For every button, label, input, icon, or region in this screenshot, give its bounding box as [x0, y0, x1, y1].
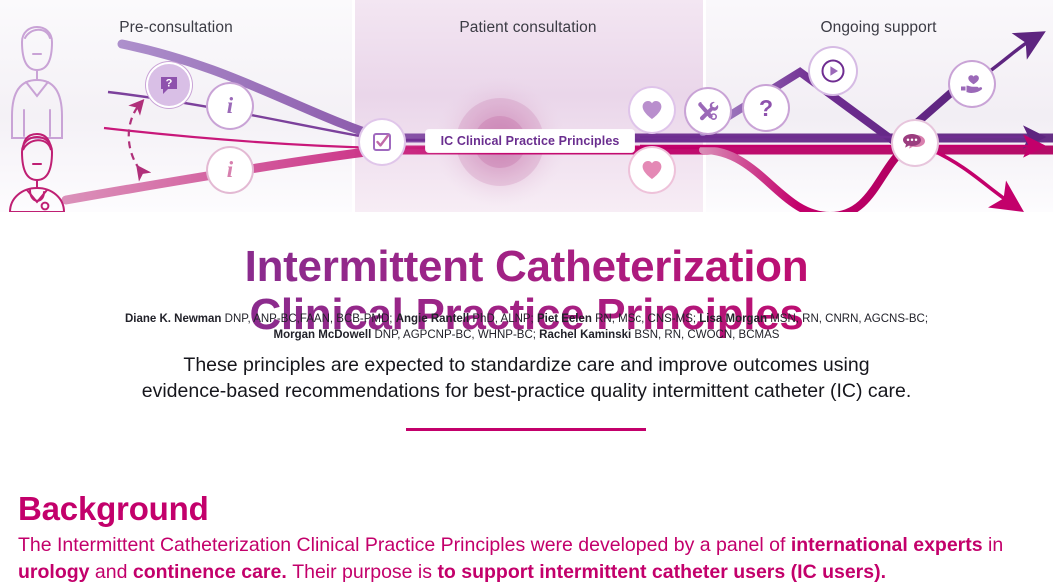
svg-text:?: ?: [166, 78, 173, 90]
heart-icon: [630, 148, 674, 192]
author-line-1: Diane K. Newman DNP, ANP-BC,FAAN, BCB-PM…: [110, 312, 943, 328]
chat-bubbles-icon: [893, 121, 937, 165]
poster-page: Pre-consultation Patient consultation On…: [0, 0, 1053, 588]
journey-flow-lines: [0, 0, 1053, 212]
question-mark-icon: ?: [744, 86, 788, 130]
tools-icon: [686, 89, 730, 133]
lede-paragraph: These principles are expected to standar…: [0, 352, 1053, 404]
clinician-figure: [10, 134, 64, 212]
lede-line-2: evidence-based recommendations for best-…: [142, 380, 912, 402]
background-body: The Intermittent Catheterization Clinica…: [18, 532, 1033, 586]
heart-icon: [630, 88, 674, 132]
information-icon: i: [208, 84, 252, 128]
ic-principles-pill-label: IC Clinical Practice Principles: [441, 134, 620, 148]
question-speech-bubble-icon: ?: [148, 64, 190, 106]
checklist-icon: [360, 120, 404, 164]
author-list: Diane K. Newman DNP, ANP-BC,FAAN, BCB-PM…: [0, 312, 1053, 343]
information-icon: i: [208, 148, 252, 192]
play-icon: [810, 48, 856, 94]
hand-holding-heart-icon: [950, 62, 994, 106]
patient-figure: [12, 27, 62, 138]
background-heading: Background: [18, 490, 209, 528]
lede-line-1: These principles are expected to standar…: [183, 354, 869, 376]
author-line-2: Morgan McDowell DNP, AGPCNP-BC, WHNP-BC;…: [110, 328, 943, 344]
page-title-line-1: Intermittent Catheterization: [0, 243, 1053, 291]
section-divider: [406, 428, 646, 431]
journey-infographic: Pre-consultation Patient consultation On…: [0, 0, 1053, 212]
ic-principles-pill: IC Clinical Practice Principles: [426, 130, 634, 152]
